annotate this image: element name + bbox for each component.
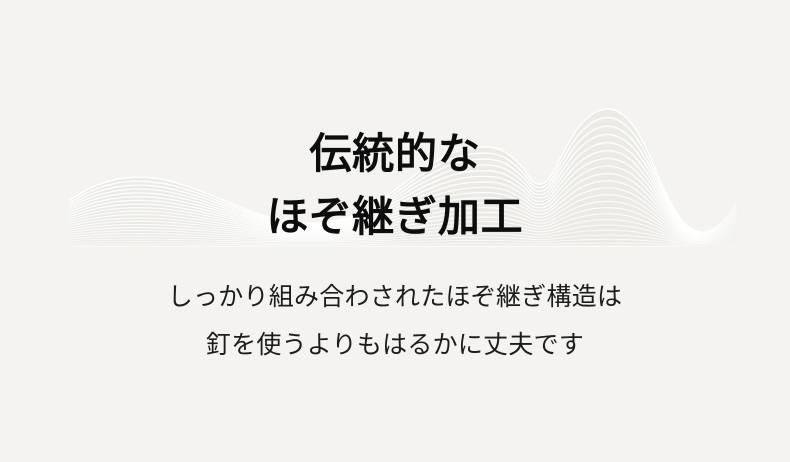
subcopy-line-1: しっかり組み合わされたほぞ継ぎ構造は [168, 284, 623, 309]
banner-text-block: 伝統的な ほぞ継ぎ加工 しっかり組み合わされたほぞ継ぎ構造は 釘を使うよりもはる… [0, 0, 790, 462]
promo-banner: 伝統的な ほぞ継ぎ加工 しっかり組み合わされたほぞ継ぎ構造は 釘を使うよりもはる… [0, 0, 790, 462]
headline-line-2: ほぞ継ぎ加工 [266, 196, 523, 238]
subcopy-line-2: 釘を使うよりもはるかに丈夫です [206, 332, 584, 357]
headline-line-1: 伝統的な [309, 133, 480, 175]
